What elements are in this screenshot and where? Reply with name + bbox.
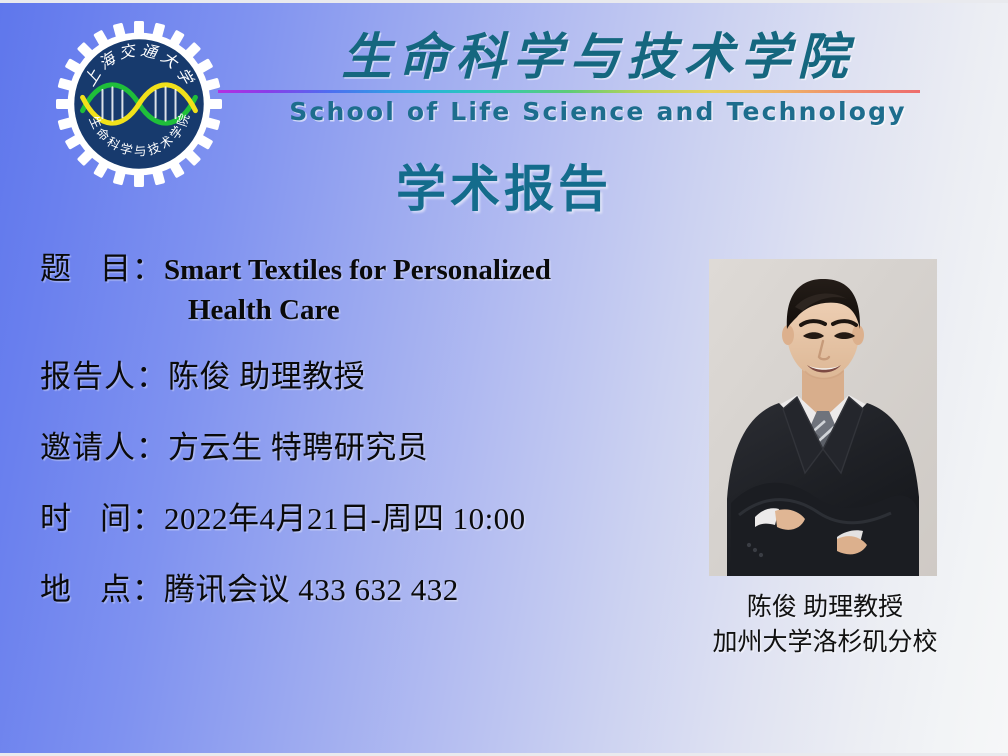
info-value-place: 腾讯会议 433 632 432 bbox=[164, 564, 459, 609]
info-block: 题目： Smart Textiles for Personalized Heal… bbox=[40, 243, 690, 635]
info-label-inviter: 邀请人： bbox=[40, 422, 168, 467]
school-name-english: School of Life Science and Technology bbox=[218, 97, 978, 126]
info-row-time: 时间： 2022年4月21日-周四 10:00 bbox=[40, 493, 690, 538]
info-label-time: 时间： bbox=[40, 493, 164, 538]
caption-line-name: 陈俊 助理教授 bbox=[660, 591, 990, 626]
school-name-chinese: 生命科学与技术学院 bbox=[218, 29, 978, 85]
caption-line-affiliation: 加州大学洛杉矶分校 bbox=[660, 626, 990, 661]
info-value-inviter: 方云生 特聘研究员 bbox=[168, 422, 428, 467]
info-value-title-line1: Smart Textiles for Personalized bbox=[164, 254, 551, 287]
info-value-time: 2022年4月21日-周四 10:00 bbox=[164, 493, 526, 538]
info-row-speaker: 报告人： 陈俊 助理教授 bbox=[40, 351, 690, 396]
page-title: 学术报告 bbox=[0, 149, 1008, 221]
speaker-caption: 陈俊 助理教授 加州大学洛杉矶分校 bbox=[660, 591, 990, 660]
info-label-speaker: 报告人： bbox=[40, 351, 168, 396]
info-row-place: 地点： 腾讯会议 433 632 432 bbox=[40, 564, 690, 609]
speaker-photo bbox=[709, 259, 937, 576]
seminar-poster: 上海交通大学 生命科学与技术学院 生命科学与技术学院 School of Lif… bbox=[0, 0, 1008, 756]
header-block: 生命科学与技术学院 School of Life Science and Tec… bbox=[218, 29, 978, 126]
info-label-place: 地点： bbox=[40, 564, 164, 609]
info-value-title-line2: Health Care bbox=[188, 294, 690, 327]
info-row-title: 题目： Smart Textiles for Personalized bbox=[40, 243, 690, 288]
info-label-title: 题目： bbox=[40, 243, 164, 288]
info-row-inviter: 邀请人： 方云生 特聘研究员 bbox=[40, 422, 690, 467]
rainbow-divider bbox=[218, 90, 920, 93]
info-value-speaker: 陈俊 助理教授 bbox=[168, 351, 365, 396]
